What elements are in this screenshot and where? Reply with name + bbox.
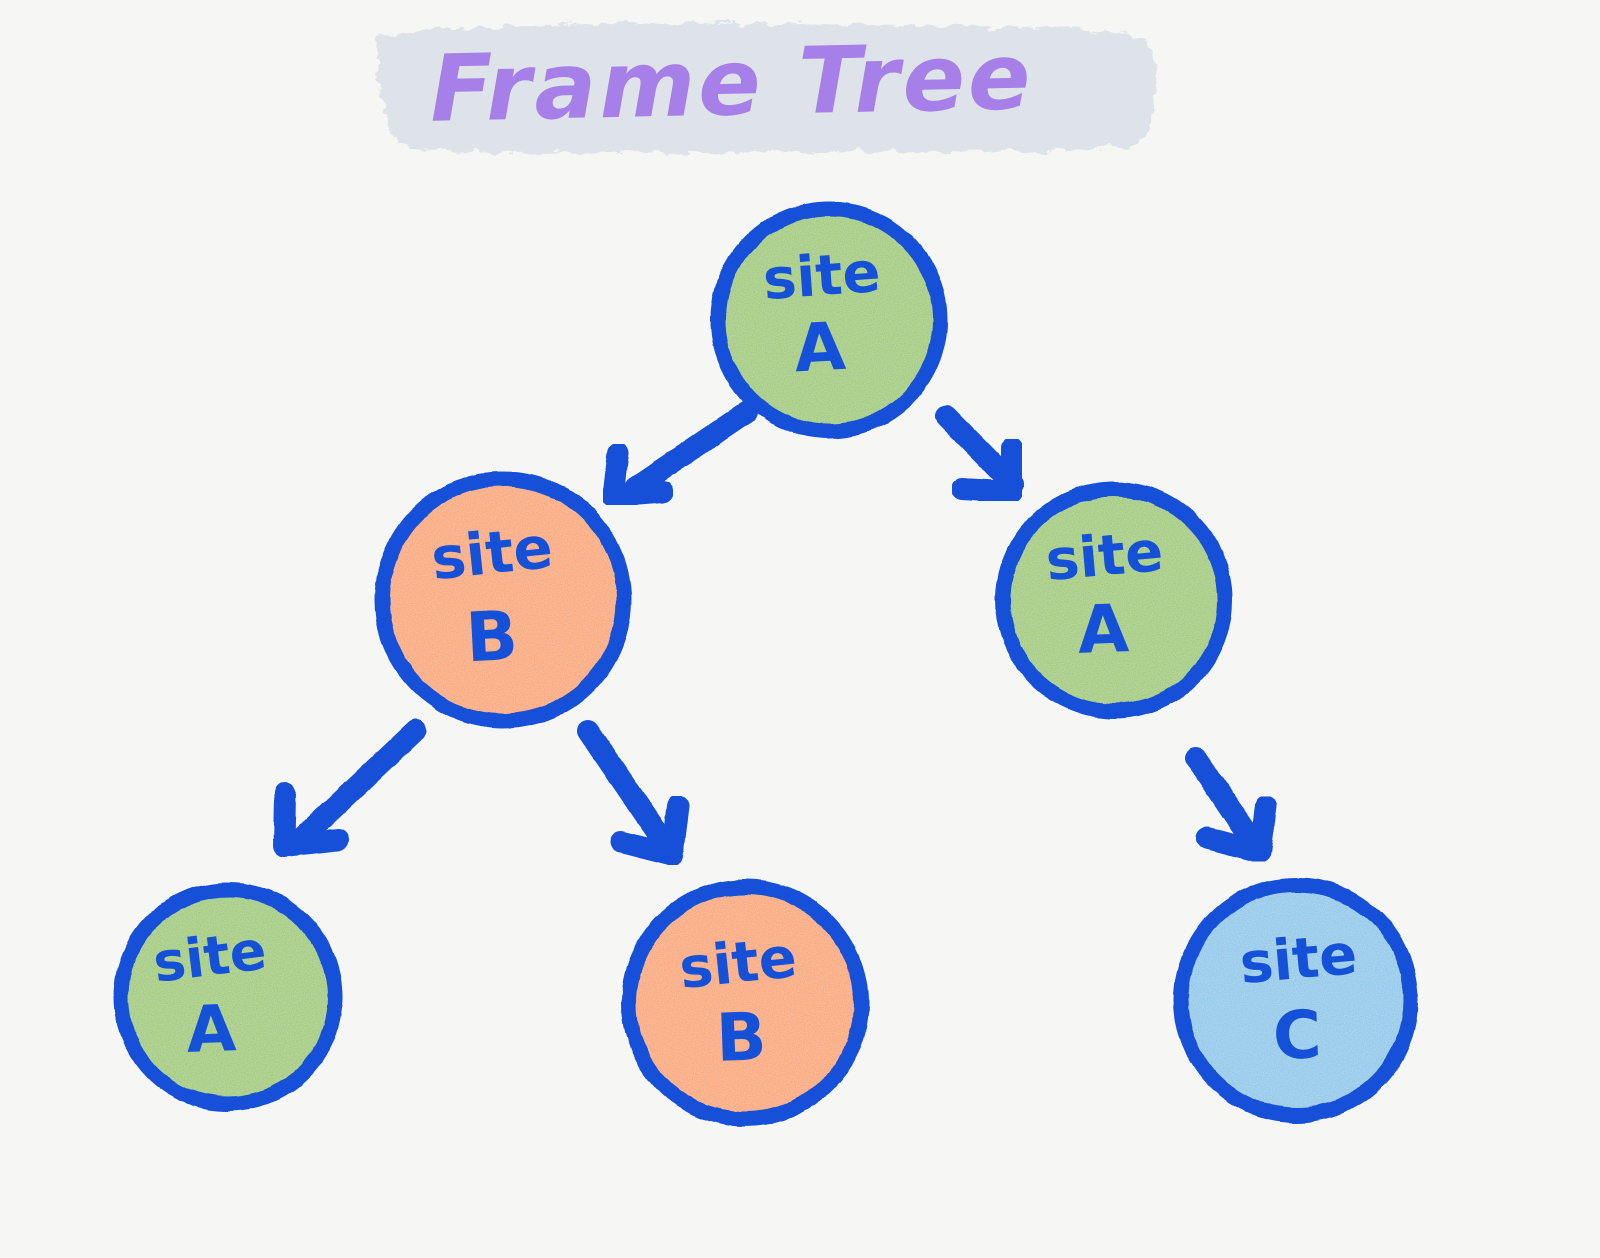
- node-site-a-right-line2: A: [1076, 590, 1130, 669]
- edge-root-to-siteB: [613, 412, 747, 496]
- node-site-c-bottom-right-line2: C: [1272, 996, 1323, 1075]
- node-root-site-a-line2: A: [792, 308, 847, 388]
- edge-root-to-siteA-right: [946, 416, 1013, 492]
- title-highlight: [376, 23, 1155, 152]
- node-site-c-bottom-right[interactable]: site C: [1181, 885, 1411, 1115]
- node-site-c-bottom-right-line1: site: [1237, 922, 1360, 997]
- diagram-stage: site A site B site A site A: [0, 0, 1600, 1258]
- node-site-a-right[interactable]: site A: [1003, 489, 1225, 711]
- edge-siteB-to-siteA-bottom: [284, 730, 416, 846]
- node-site-b-bottom-middle-line1: site: [676, 925, 799, 1002]
- node-root-site-a-line1: site: [761, 240, 883, 313]
- node-site-b-left-line2: B: [464, 597, 520, 679]
- node-root-site-a[interactable]: site A: [718, 209, 940, 431]
- node-site-b-bottom-middle[interactable]: site B: [629, 887, 861, 1119]
- node-site-b-left-line1: site: [428, 513, 556, 593]
- node-site-a-bottom-left-line2: A: [185, 992, 238, 1068]
- frame-tree-canvas: site A site B site A site A: [0, 0, 1600, 1258]
- edge-siteA-to-siteC: [1196, 758, 1266, 852]
- edge-siteB-to-siteB-bottom: [588, 731, 678, 855]
- nodes-group: site A site B site A site A: [121, 209, 1411, 1119]
- node-site-a-bottom-left[interactable]: site A: [121, 890, 335, 1104]
- node-site-b-left[interactable]: site B: [382, 479, 624, 721]
- node-site-a-right-line1: site: [1043, 519, 1166, 594]
- node-site-b-bottom-middle-line2: B: [715, 998, 768, 1077]
